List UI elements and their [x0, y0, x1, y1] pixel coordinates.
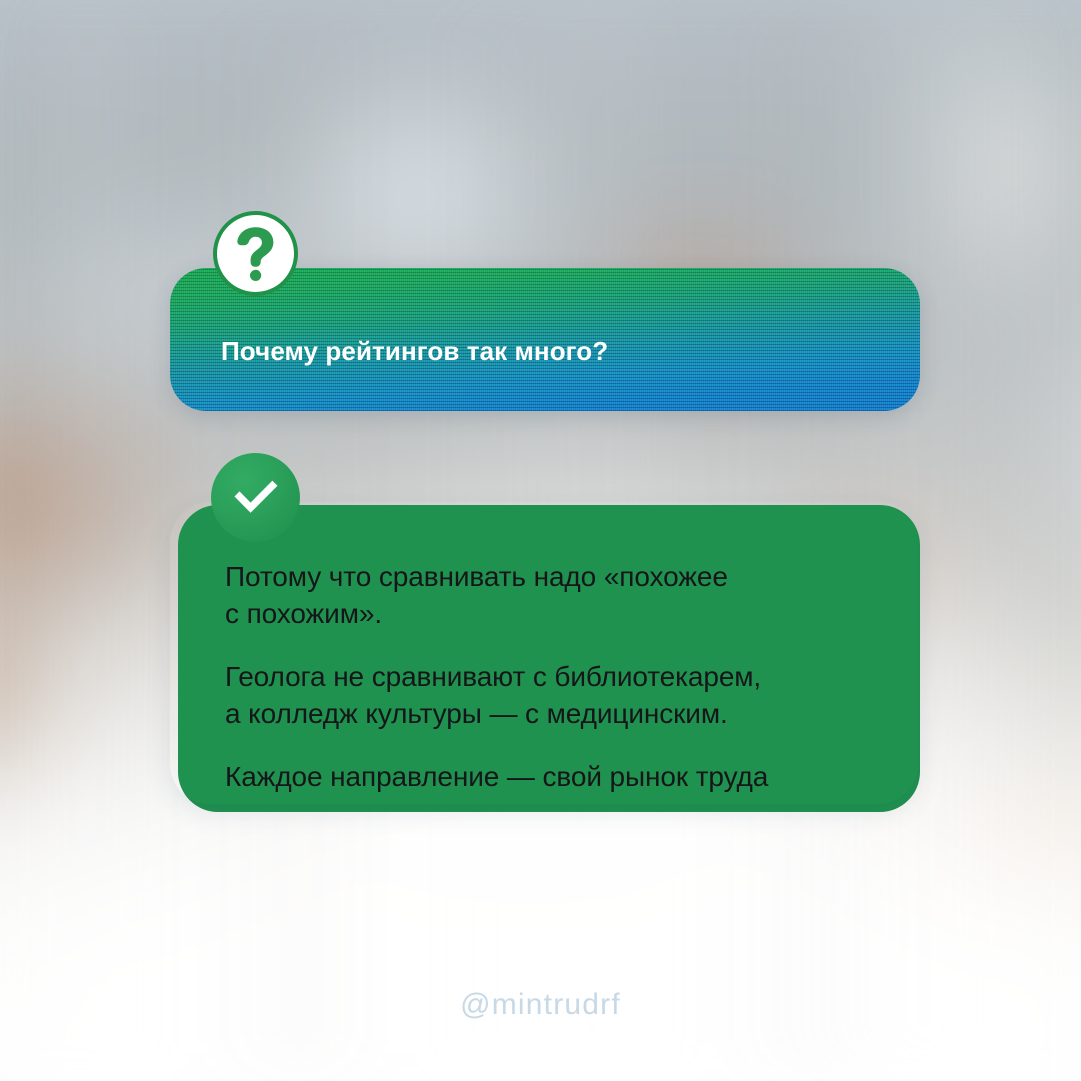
check-mark-icon: [211, 453, 300, 542]
answer-text-block: Потому что сравнивать надо «похожее с по…: [225, 558, 872, 795]
watermark-handle: @mintrudrf: [0, 988, 1081, 1022]
question-header-bar: Почему рейтингов так много?: [170, 268, 920, 411]
question-mark-icon: [213, 211, 298, 296]
answer-paragraph: Потому что сравнивать надо «похожее с по…: [225, 558, 872, 632]
social-post-canvas: Почему рейтингов так много? Потому что с…: [0, 0, 1081, 1081]
question-title: Почему рейтингов так много?: [221, 336, 608, 367]
answer-card: Потому что сравнивать надо «похожее с по…: [170, 502, 918, 804]
answer-paragraph: Геолога не сравнивают с библиотекарем, а…: [225, 658, 872, 732]
answer-paragraph: Каждое направление — свой рынок труда: [225, 758, 872, 795]
